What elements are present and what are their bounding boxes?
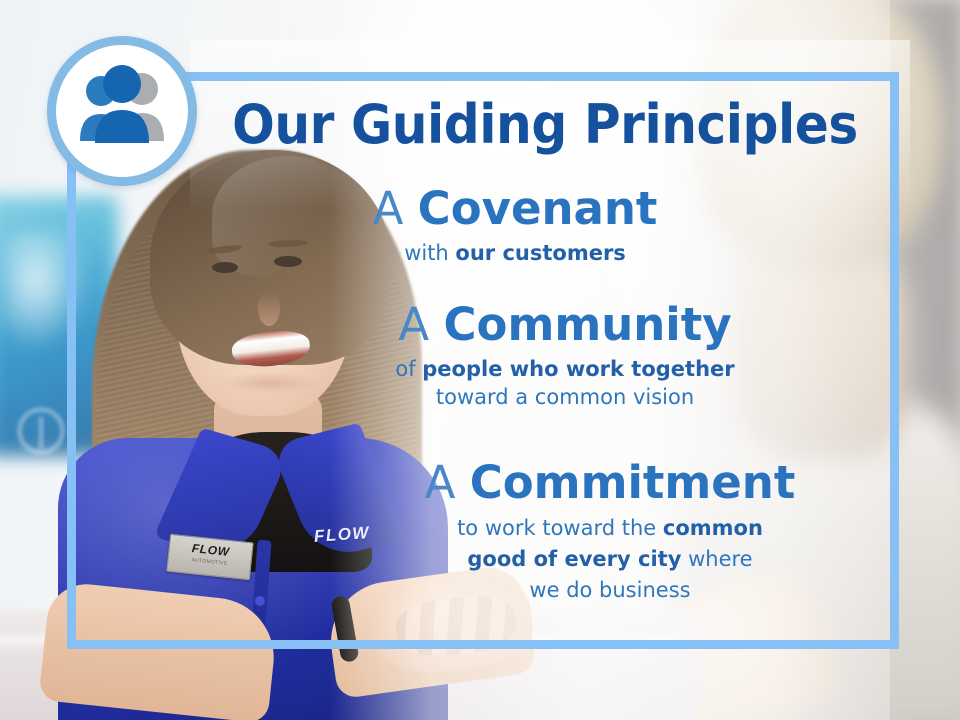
subtitle-emphasis: common	[663, 516, 763, 540]
subtitle-emphasis: people who work together	[422, 357, 734, 381]
principle-title: A Covenant	[250, 184, 780, 234]
principle-word: Community	[444, 298, 732, 351]
principle-article: A	[398, 298, 429, 351]
subtitle-line: of people who work together	[300, 355, 830, 383]
principle-subtitle: to work toward the commongood of every c…	[340, 513, 880, 606]
subtitle-emphasis: good of every city	[467, 547, 681, 571]
poster-canvas: FLOW FLOW AUTOMOTIVE Our Guiding Princip…	[0, 0, 960, 720]
principle-title: A Commitment	[340, 458, 880, 508]
subtitle-text: of	[395, 357, 422, 381]
page-title: Our Guiding Principles	[229, 96, 861, 154]
subtitle-line: to work toward the common	[340, 513, 880, 544]
subtitle-line: with our customers	[250, 239, 780, 267]
subtitle-text: toward a common vision	[436, 385, 694, 409]
principle-covenant: A Covenant with our customers	[250, 184, 780, 267]
principle-subtitle: with our customers	[250, 239, 780, 267]
principle-title: A Community	[300, 300, 830, 350]
guiding-principles-badge	[47, 36, 197, 186]
subtitle-text: where	[681, 547, 752, 571]
principle-word: Covenant	[418, 182, 658, 235]
employee-nose	[258, 292, 280, 326]
principle-article: A	[373, 182, 404, 235]
principle-word: Commitment	[470, 456, 796, 509]
employee-shirt-button	[255, 596, 265, 606]
principle-article: A	[425, 456, 456, 509]
employee-eye-left	[212, 262, 238, 273]
principle-commitment: A Commitment to work toward the commongo…	[340, 458, 880, 606]
principle-subtitle: of people who work togethertoward a comm…	[300, 355, 830, 411]
subtitle-line: we do business	[340, 575, 880, 606]
vehicle-highlight	[2, 232, 88, 352]
subtitle-text: we do business	[529, 578, 690, 602]
subtitle-text: with	[404, 241, 455, 265]
subtitle-text: to work toward the	[457, 516, 663, 540]
subtitle-emphasis: our customers	[455, 241, 625, 265]
blurred-brand-emblem-icon	[18, 408, 64, 454]
subtitle-line: good of every city where	[340, 544, 880, 575]
people-group-icon	[56, 45, 188, 177]
principle-community: A Community of people who work togethert…	[300, 300, 830, 411]
subtitle-line: toward a common vision	[300, 383, 830, 411]
